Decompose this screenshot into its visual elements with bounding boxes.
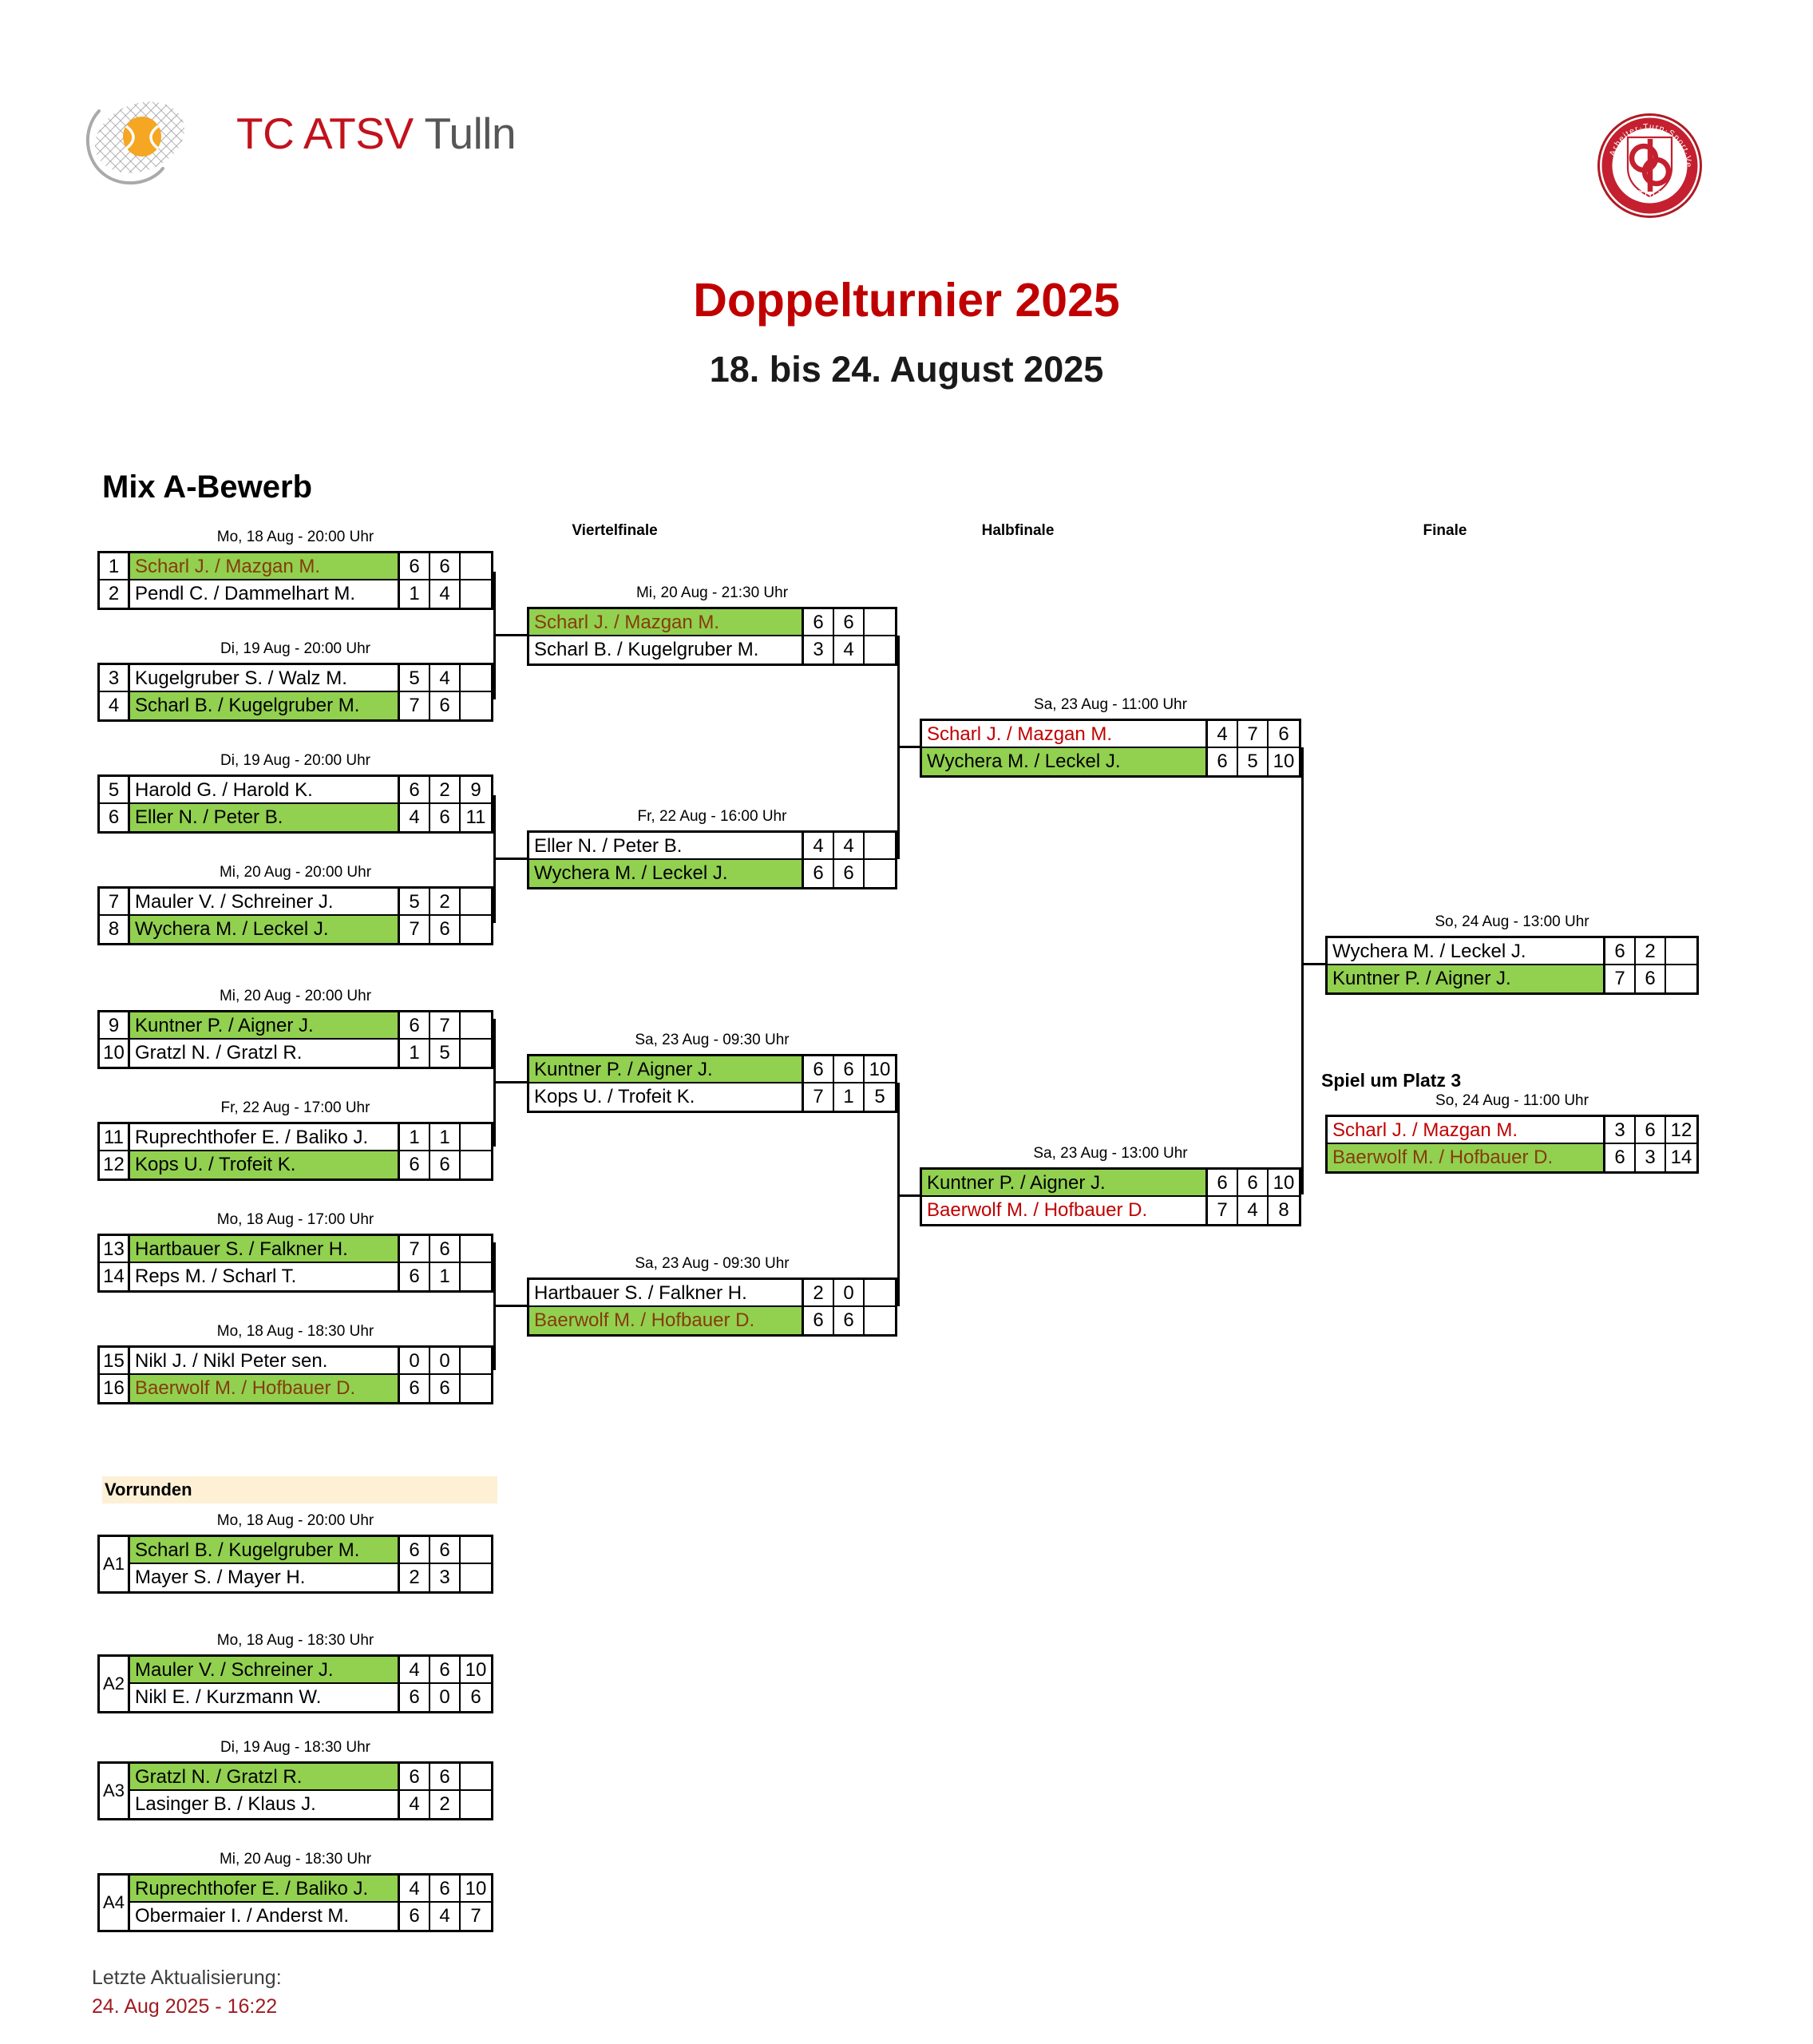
team-name: Harold G. / Harold K. xyxy=(130,777,400,802)
set-score-2: 6 xyxy=(430,1876,461,1901)
match-row[interactable]: 10Gratzl N. / Gratzl R.15 xyxy=(100,1040,491,1067)
set-score-3 xyxy=(865,1280,895,1305)
match-row[interactable]: Hartbauer S. / Falkner H.20 xyxy=(529,1280,895,1307)
set-score-1: 5 xyxy=(400,889,430,914)
set-score-1: 6 xyxy=(804,1307,834,1334)
match-time: Sa, 23 Aug - 09:30 Uhr xyxy=(527,1032,897,1049)
set-score-2: 7 xyxy=(430,1012,461,1038)
team-name: Kugelgruber S. / Walz M. xyxy=(130,665,400,691)
set-score-1: 7 xyxy=(804,1083,834,1111)
match-row[interactable]: Baerwolf M. / Hofbauer D.66 xyxy=(529,1307,895,1334)
set-score-2: 2 xyxy=(1636,938,1666,964)
match-row[interactable]: Scharl J. / Mazgan M.3612 xyxy=(1328,1117,1696,1144)
team-name: Hartbauer S. / Falkner H. xyxy=(529,1280,804,1305)
team-name: Baerwolf M. / Hofbauer D. xyxy=(1328,1144,1605,1171)
team-name: Scharl B. / Kugelgruber M. xyxy=(130,1537,400,1563)
team-name: Kops U. / Trofeit K. xyxy=(130,1151,400,1178)
page-subtitle: 18. bis 24. August 2025 xyxy=(0,349,1813,390)
set-score-1: 6 xyxy=(400,1764,430,1789)
set-score-1: 5 xyxy=(400,665,430,691)
match-row[interactable]: Wychera M. / Leckel J.66 xyxy=(529,860,895,887)
set-score-3 xyxy=(461,1124,491,1150)
set-score-1: 4 xyxy=(400,804,430,831)
set-score-1: 6 xyxy=(1605,938,1636,964)
team-name: Kuntner P. / Aigner J. xyxy=(1328,965,1605,992)
match-box[interactable]: Kuntner P. / Aigner J.6610Kops U. / Trof… xyxy=(527,1054,897,1113)
set-score-3 xyxy=(1666,938,1696,964)
set-score-3: 10 xyxy=(461,1876,491,1901)
set-score-2: 0 xyxy=(834,1280,865,1305)
set-score-3 xyxy=(461,1151,491,1178)
seed-number: 8 xyxy=(100,916,130,943)
set-score-3 xyxy=(461,553,491,579)
match-time: Sa, 23 Aug - 11:00 Uhr xyxy=(920,696,1301,714)
match-time: Mi, 20 Aug - 20:00 Uhr xyxy=(97,988,493,1005)
match-time: Fr, 22 Aug - 17:00 Uhr xyxy=(97,1099,493,1117)
match-row[interactable]: Eller N. / Peter B.44 xyxy=(529,833,895,860)
match-box[interactable]: A3Gratzl N. / Gratzl R.66Lasinger B. / K… xyxy=(97,1761,493,1820)
seed-number: 7 xyxy=(100,889,130,914)
bracket-connector xyxy=(493,858,527,860)
set-score-1: 1 xyxy=(400,1040,430,1067)
set-score-2: 4 xyxy=(430,580,461,608)
match-time: Fr, 22 Aug - 16:00 Uhr xyxy=(527,808,897,826)
match-time: Mo, 18 Aug - 20:00 Uhr xyxy=(97,529,493,546)
set-score-2: 5 xyxy=(430,1040,461,1067)
team-name: Baerwolf M. / Hofbauer D. xyxy=(922,1197,1208,1224)
club-name-red: TC ATSV xyxy=(236,109,414,158)
match-box[interactable]: A1Scharl B. / Kugelgruber M.66Mayer S. /… xyxy=(97,1535,493,1594)
set-score-1: 6 xyxy=(400,1684,430,1711)
set-score-2: 5 xyxy=(1238,748,1269,775)
set-score-1: 6 xyxy=(1605,1144,1636,1171)
match-row[interactable]: Scharl J. / Mazgan M.66 xyxy=(529,609,895,636)
seed-number: 14 xyxy=(100,1263,130,1290)
set-score-3 xyxy=(461,1791,491,1818)
set-score-3 xyxy=(461,665,491,691)
match-row[interactable]: Kops U. / Trofeit K.715 xyxy=(529,1083,895,1111)
match-row[interactable]: 1Scharl J. / Mazgan M.66 xyxy=(100,553,491,580)
match-row[interactable]: 12Kops U. / Trofeit K.66 xyxy=(100,1151,491,1178)
set-score-1: 4 xyxy=(804,833,834,858)
tennis-racket-icon xyxy=(80,100,232,196)
heading-third-place: Spiel um Platz 3 xyxy=(1321,1070,1461,1091)
set-score-2: 4 xyxy=(834,833,865,858)
set-score-2: 6 xyxy=(834,860,865,887)
seed-number: 3 xyxy=(100,665,130,691)
set-score-3: 10 xyxy=(865,1056,895,1082)
seed-number: 12 xyxy=(100,1151,130,1178)
set-score-2: 3 xyxy=(430,1564,461,1591)
set-score-3 xyxy=(461,1348,491,1373)
team-name: Mayer S. / Mayer H. xyxy=(130,1564,400,1591)
match-time: Mo, 18 Aug - 17:00 Uhr xyxy=(97,1211,493,1229)
team-name: Nikl E. / Kurzmann W. xyxy=(130,1684,400,1711)
team-name: Lasinger B. / Klaus J. xyxy=(130,1791,400,1818)
last-update-date: 24. Aug 2025 - 16:22 xyxy=(92,1995,277,2018)
set-score-2: 7 xyxy=(1238,721,1269,747)
match-row[interactable]: Scharl B. / Kugelgruber M.34 xyxy=(529,636,895,664)
match-row[interactable]: 4Scharl B. / Kugelgruber M.76 xyxy=(100,692,491,719)
match-time: Mo, 18 Aug - 18:30 Uhr xyxy=(97,1323,493,1341)
seed-number: 15 xyxy=(100,1348,130,1373)
set-score-2: 6 xyxy=(1238,1170,1269,1195)
match-box[interactable]: 15Nikl J. / Nikl Peter sen.0016Baerwolf … xyxy=(97,1345,493,1404)
team-name: Scharl J. / Mazgan M. xyxy=(1328,1117,1605,1143)
team-name: Obermaier I. / Anderst M. xyxy=(130,1903,400,1930)
set-score-3 xyxy=(461,692,491,719)
set-score-3 xyxy=(865,609,895,635)
set-score-2: 4 xyxy=(430,665,461,691)
set-score-3: 8 xyxy=(1269,1197,1299,1224)
set-score-1: 6 xyxy=(400,1375,430,1402)
team-name: Wychera M. / Leckel J. xyxy=(922,748,1208,775)
set-score-1: 6 xyxy=(1208,1170,1238,1195)
team-name: Gratzl N. / Gratzl R. xyxy=(130,1040,400,1067)
team-name: Hartbauer S. / Falkner H. xyxy=(130,1236,400,1262)
set-score-2: 6 xyxy=(430,1537,461,1563)
set-score-2: 4 xyxy=(1238,1197,1269,1224)
set-score-1: 4 xyxy=(1208,721,1238,747)
team-name: Scharl B. / Kugelgruber M. xyxy=(529,636,804,664)
set-score-2: 6 xyxy=(430,916,461,943)
match-box[interactable]: Hartbauer S. / Falkner H.20Baerwolf M. /… xyxy=(527,1277,897,1337)
set-score-2: 6 xyxy=(430,1151,461,1178)
seed-number: 11 xyxy=(100,1124,130,1150)
page-title: Doppelturnier 2025 xyxy=(0,273,1813,327)
set-score-1: 4 xyxy=(400,1657,430,1682)
set-score-1: 1 xyxy=(400,580,430,608)
set-score-3 xyxy=(461,1375,491,1402)
seed-number: 16 xyxy=(100,1375,130,1402)
set-score-3 xyxy=(1666,965,1696,992)
set-score-3: 10 xyxy=(1269,748,1299,775)
match-row[interactable]: 9Kuntner P. / Aigner J.67 xyxy=(100,1012,491,1040)
match-row[interactable]: 15Nikl J. / Nikl Peter sen.00 xyxy=(100,1348,491,1375)
set-score-2: 0 xyxy=(430,1684,461,1711)
match-row[interactable]: Baerwolf M. / Hofbauer D.6314 xyxy=(1328,1144,1696,1171)
set-score-2: 6 xyxy=(430,1764,461,1789)
team-name: Ruprechthofer E. / Baliko J. xyxy=(130,1876,400,1901)
set-score-2: 6 xyxy=(834,1307,865,1334)
match-time: So, 24 Aug - 11:00 Uhr xyxy=(1325,1092,1699,1110)
match-box[interactable]: Scharl J. / Mazgan M.3612Baerwolf M. / H… xyxy=(1325,1115,1699,1174)
set-score-3 xyxy=(461,1040,491,1067)
set-score-2: 6 xyxy=(834,1056,865,1082)
prelim-group-code: A3 xyxy=(100,1764,130,1818)
match-box[interactable]: Scharl J. / Mazgan M.476Wychera M. / Lec… xyxy=(920,719,1301,778)
last-update-label: Letzte Aktualisierung: xyxy=(92,1967,282,1990)
match-box[interactable]: Scharl J. / Mazgan M.66Scharl B. / Kugel… xyxy=(527,607,897,666)
match-row[interactable]: Wychera M. / Leckel J.62 xyxy=(1328,938,1696,965)
match-time: Di, 19 Aug - 18:30 Uhr xyxy=(97,1739,493,1757)
match-box[interactable]: 11Ruprechthofer E. / Baliko J.1112Kops U… xyxy=(97,1122,493,1181)
set-score-1: 3 xyxy=(1605,1117,1636,1143)
set-score-2: 1 xyxy=(430,1263,461,1290)
set-score-1: 1 xyxy=(400,1124,430,1150)
match-time: Mo, 18 Aug - 18:30 Uhr xyxy=(97,1632,493,1650)
team-name: Pendl C. / Dammelhart M. xyxy=(130,580,400,608)
match-row[interactable]: Baerwolf M. / Hofbauer D.748 xyxy=(922,1197,1299,1224)
set-score-2: 4 xyxy=(834,636,865,664)
set-score-3 xyxy=(461,916,491,943)
match-row[interactable]: Kuntner P. / Aigner J.6610 xyxy=(529,1056,895,1083)
match-row[interactable]: 8Wychera M. / Leckel J.76 xyxy=(100,916,491,943)
match-row[interactable]: Mayer S. / Mayer H.23 xyxy=(130,1564,491,1591)
team-name: Kops U. / Trofeit K. xyxy=(529,1083,804,1111)
match-box[interactable]: A4Ruprechthofer E. / Baliko J.4610Oberma… xyxy=(97,1873,493,1932)
prelim-group-code: A2 xyxy=(100,1657,130,1711)
set-score-2: 6 xyxy=(430,1375,461,1402)
match-row[interactable]: Nikl E. / Kurzmann W.606 xyxy=(130,1684,491,1711)
set-score-3: 5 xyxy=(865,1083,895,1111)
set-score-1: 4 xyxy=(400,1876,430,1901)
match-row[interactable]: 6Eller N. / Peter B.4611 xyxy=(100,804,491,831)
set-score-1: 7 xyxy=(400,1236,430,1262)
team-name: Scharl J. / Mazgan M. xyxy=(130,553,400,579)
set-score-3: 11 xyxy=(461,804,491,831)
set-score-1: 6 xyxy=(804,609,834,635)
match-row[interactable]: Obermaier I. / Anderst M.647 xyxy=(130,1903,491,1930)
set-score-2: 6 xyxy=(430,692,461,719)
seed-number: 9 xyxy=(100,1012,130,1038)
match-row[interactable]: 2Pendl C. / Dammelhart M.14 xyxy=(100,580,491,608)
team-name: Eller N. / Peter B. xyxy=(130,804,400,831)
match-row[interactable]: Kuntner P. / Aigner J.6610 xyxy=(922,1170,1299,1197)
set-score-3: 14 xyxy=(1666,1144,1696,1171)
set-score-3 xyxy=(865,860,895,887)
set-score-1: 3 xyxy=(804,636,834,664)
match-time: Sa, 23 Aug - 09:30 Uhr xyxy=(527,1255,897,1273)
set-score-1: 2 xyxy=(804,1280,834,1305)
match-row[interactable]: Gratzl N. / Gratzl R.66 xyxy=(130,1764,491,1791)
match-time: Mi, 20 Aug - 18:30 Uhr xyxy=(97,1851,493,1868)
set-score-3: 10 xyxy=(1269,1170,1299,1195)
seed-number: 1 xyxy=(100,553,130,579)
match-box[interactable]: 7Mauler V. / Schreiner J.528Wychera M. /… xyxy=(97,886,493,945)
set-score-2: 6 xyxy=(1636,965,1666,992)
set-score-1: 7 xyxy=(1208,1197,1238,1224)
set-score-1: 6 xyxy=(804,1056,834,1082)
team-name: Nikl J. / Nikl Peter sen. xyxy=(130,1348,400,1373)
set-score-2: 6 xyxy=(834,609,865,635)
seed-number: 4 xyxy=(100,692,130,719)
set-score-1: 6 xyxy=(400,1151,430,1178)
bracket-connector xyxy=(493,1305,527,1307)
team-name: Eller N. / Peter B. xyxy=(529,833,804,858)
set-score-2: 2 xyxy=(430,777,461,802)
match-row[interactable]: 13Hartbauer S. / Falkner H.76 xyxy=(100,1236,491,1263)
set-score-1: 6 xyxy=(400,1012,430,1038)
atsv-crest-logo: Arbeiter·Turn·Sport·Verein · TULLN · xyxy=(1596,112,1704,220)
set-score-3 xyxy=(461,889,491,914)
set-score-1: 6 xyxy=(804,860,834,887)
match-row[interactable]: 3Kugelgruber S. / Walz M.54 xyxy=(100,665,491,692)
set-score-3: 6 xyxy=(461,1684,491,1711)
heading-semifinals: Halbfinale xyxy=(926,522,1110,540)
team-name: Wychera M. / Leckel J. xyxy=(529,860,804,887)
match-box[interactable]: 13Hartbauer S. / Falkner H.7614Reps M. /… xyxy=(97,1234,493,1293)
match-row[interactable]: 7Mauler V. / Schreiner J.52 xyxy=(100,889,491,916)
set-score-1: 7 xyxy=(400,692,430,719)
set-score-3: 9 xyxy=(461,777,491,802)
set-score-1: 4 xyxy=(400,1791,430,1818)
set-score-3 xyxy=(461,1236,491,1262)
team-name: Baerwolf M. / Hofbauer D. xyxy=(130,1375,400,1402)
match-box[interactable]: 3Kugelgruber S. / Walz M.544Scharl B. / … xyxy=(97,663,493,722)
match-box[interactable]: 1Scharl J. / Mazgan M.662Pendl C. / Damm… xyxy=(97,551,493,610)
set-score-1: 0 xyxy=(400,1348,430,1373)
set-score-3 xyxy=(865,636,895,664)
set-score-1: 2 xyxy=(400,1564,430,1591)
match-row[interactable]: 5Harold G. / Harold K.629 xyxy=(100,777,491,804)
bracket-connector xyxy=(493,634,527,636)
team-name: Scharl J. / Mazgan M. xyxy=(529,609,804,635)
set-score-2: 3 xyxy=(1636,1144,1666,1171)
set-score-2: 6 xyxy=(430,553,461,579)
set-score-3: 10 xyxy=(461,1657,491,1682)
set-score-2: 2 xyxy=(430,889,461,914)
match-time: So, 24 Aug - 13:00 Uhr xyxy=(1325,913,1699,931)
set-score-3: 12 xyxy=(1666,1117,1696,1143)
set-score-1: 6 xyxy=(400,1537,430,1563)
set-score-1: 6 xyxy=(1208,748,1238,775)
set-score-3 xyxy=(461,1764,491,1789)
team-name: Mauler V. / Schreiner J. xyxy=(130,1657,400,1682)
match-row[interactable]: 16Baerwolf M. / Hofbauer D.66 xyxy=(100,1375,491,1402)
team-name: Kuntner P. / Aigner J. xyxy=(922,1170,1208,1195)
team-name: Scharl J. / Mazgan M. xyxy=(922,721,1208,747)
team-name: Baerwolf M. / Hofbauer D. xyxy=(529,1307,804,1334)
match-row[interactable]: Kuntner P. / Aigner J.76 xyxy=(1328,965,1696,992)
club-logo-left: TC ATSV Tulln xyxy=(80,100,591,196)
club-name-grey: Tulln xyxy=(424,109,516,158)
match-row[interactable]: Ruprechthofer E. / Baliko J.4610 xyxy=(130,1876,491,1903)
match-time: Di, 19 Aug - 20:00 Uhr xyxy=(97,640,493,658)
match-time: Mi, 20 Aug - 21:30 Uhr xyxy=(527,584,897,602)
seed-number: 13 xyxy=(100,1236,130,1262)
team-name: Scharl B. / Kugelgruber M. xyxy=(130,692,400,719)
heading-vorrunden: Vorrunden xyxy=(102,1476,497,1503)
set-score-3: 6 xyxy=(1269,721,1299,747)
seed-number: 10 xyxy=(100,1040,130,1067)
team-name: Mauler V. / Schreiner J. xyxy=(130,889,400,914)
atsv-crest-icon: Arbeiter·Turn·Sport·Verein · TULLN · xyxy=(1596,112,1704,220)
set-score-3 xyxy=(461,1564,491,1591)
set-score-2: 6 xyxy=(430,804,461,831)
match-box[interactable]: Wychera M. / Leckel J.62Kuntner P. / Aig… xyxy=(1325,936,1699,995)
set-score-2: 2 xyxy=(430,1791,461,1818)
team-name: Kuntner P. / Aigner J. xyxy=(529,1056,804,1082)
set-score-1: 6 xyxy=(400,777,430,802)
bracket-connector xyxy=(1301,747,1304,1194)
set-score-2: 4 xyxy=(430,1903,461,1930)
prelim-group-code: A4 xyxy=(100,1876,130,1930)
set-score-1: 7 xyxy=(1605,965,1636,992)
competition-title: Mix A-Bewerb xyxy=(102,469,312,505)
set-score-3 xyxy=(461,1263,491,1290)
match-time: Sa, 23 Aug - 13:00 Uhr xyxy=(920,1145,1301,1163)
team-name: Wychera M. / Leckel J. xyxy=(1328,938,1605,964)
set-score-1: 6 xyxy=(400,1263,430,1290)
match-time: Mo, 18 Aug - 20:00 Uhr xyxy=(97,1512,493,1530)
match-row[interactable]: 11Ruprechthofer E. / Baliko J.11 xyxy=(100,1124,491,1151)
set-score-3: 7 xyxy=(461,1903,491,1930)
bracket-connector xyxy=(897,1194,920,1197)
match-row[interactable]: Scharl J. / Mazgan M.476 xyxy=(922,721,1299,748)
set-score-3 xyxy=(865,1307,895,1334)
club-name: TC ATSV Tulln xyxy=(236,108,516,159)
heading-final: Finale xyxy=(1353,522,1537,540)
set-score-3 xyxy=(461,1537,491,1563)
match-row[interactable]: 14Reps M. / Scharl T.61 xyxy=(100,1263,491,1290)
set-score-2: 1 xyxy=(430,1124,461,1150)
set-score-3 xyxy=(865,833,895,858)
match-row[interactable]: Wychera M. / Leckel J.6510 xyxy=(922,748,1299,775)
set-score-2: 6 xyxy=(1636,1117,1666,1143)
bracket-connector xyxy=(897,746,920,748)
match-box[interactable]: 9Kuntner P. / Aigner J.6710Gratzl N. / G… xyxy=(97,1010,493,1069)
heading-quarterfinals: Viertelfinale xyxy=(523,522,707,540)
team-name: Reps M. / Scharl T. xyxy=(130,1263,400,1290)
team-name: Wychera M. / Leckel J. xyxy=(130,916,400,943)
match-box[interactable]: Kuntner P. / Aigner J.6610Baerwolf M. / … xyxy=(920,1167,1301,1226)
match-box[interactable]: A2Mauler V. / Schreiner J.4610Nikl E. / … xyxy=(97,1654,493,1713)
set-score-1: 6 xyxy=(400,1903,430,1930)
team-name: Gratzl N. / Gratzl R. xyxy=(130,1764,400,1789)
set-score-1: 7 xyxy=(400,916,430,943)
match-box[interactable]: 5Harold G. / Harold K.6296Eller N. / Pet… xyxy=(97,774,493,834)
set-score-2: 0 xyxy=(430,1348,461,1373)
set-score-2: 6 xyxy=(430,1657,461,1682)
set-score-1: 6 xyxy=(400,553,430,579)
bracket-connector xyxy=(1301,963,1325,965)
set-score-2: 1 xyxy=(834,1083,865,1111)
seed-number: 5 xyxy=(100,777,130,802)
team-name: Kuntner P. / Aigner J. xyxy=(130,1012,400,1038)
seed-number: 6 xyxy=(100,804,130,831)
match-row[interactable]: Scharl B. / Kugelgruber M.66 xyxy=(130,1537,491,1564)
match-box[interactable]: Eller N. / Peter B.44Wychera M. / Leckel… xyxy=(527,830,897,889)
match-time: Mi, 20 Aug - 20:00 Uhr xyxy=(97,864,493,881)
bracket-connector xyxy=(493,1081,527,1083)
match-row[interactable]: Lasinger B. / Klaus J.42 xyxy=(130,1791,491,1818)
set-score-3 xyxy=(461,1012,491,1038)
team-name: Ruprechthofer E. / Baliko J. xyxy=(130,1124,400,1150)
prelim-group-code: A1 xyxy=(100,1537,130,1591)
match-row[interactable]: Mauler V. / Schreiner J.4610 xyxy=(130,1657,491,1684)
set-score-3 xyxy=(461,580,491,608)
seed-number: 2 xyxy=(100,580,130,608)
set-score-2: 6 xyxy=(430,1236,461,1262)
match-time: Di, 19 Aug - 20:00 Uhr xyxy=(97,752,493,770)
